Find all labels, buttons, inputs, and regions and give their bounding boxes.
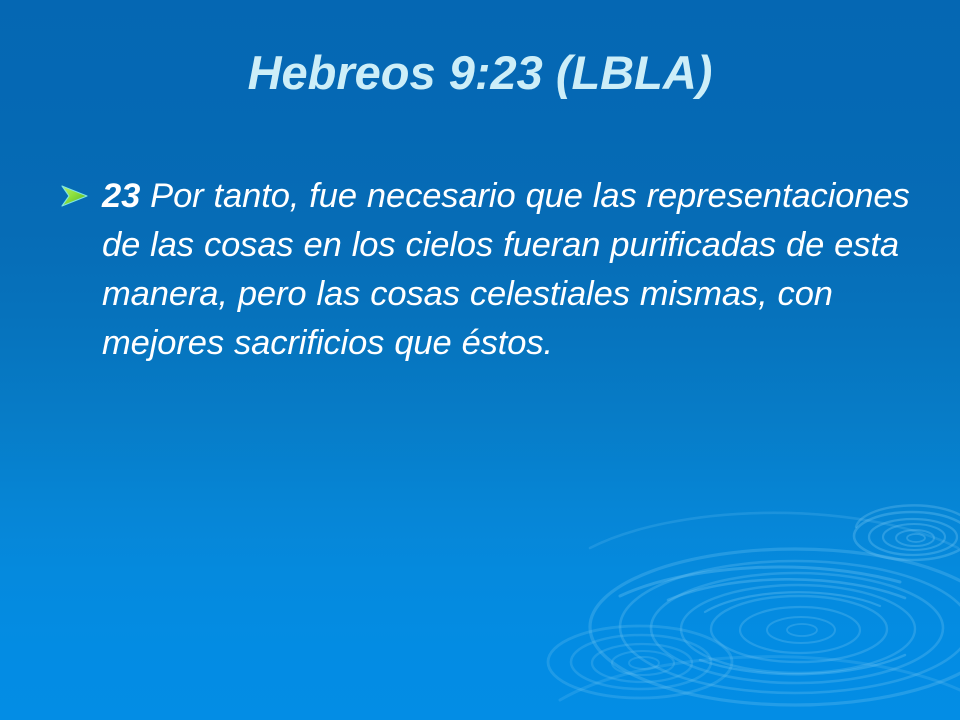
- arrowhead-bullet-icon: [60, 184, 90, 208]
- slide-body: 23 Por tanto, fue necesario que las repr…: [50, 172, 920, 368]
- slide-title-text: Hebreos 9:23 (LBLA): [248, 48, 713, 99]
- presentation-slide: Hebreos 9:23 (LBLA) 23 Por tanto, fue ne…: [0, 0, 960, 720]
- verse-body-text: Por tanto, fue necesario que las represe…: [102, 177, 910, 362]
- verse-paragraph: 23 Por tanto, fue necesario que las repr…: [102, 172, 920, 368]
- slide-title: Hebreos 9:23 (LBLA): [60, 48, 900, 99]
- verse-number: 23: [102, 177, 140, 215]
- list-item: 23 Por tanto, fue necesario que las repr…: [50, 172, 920, 368]
